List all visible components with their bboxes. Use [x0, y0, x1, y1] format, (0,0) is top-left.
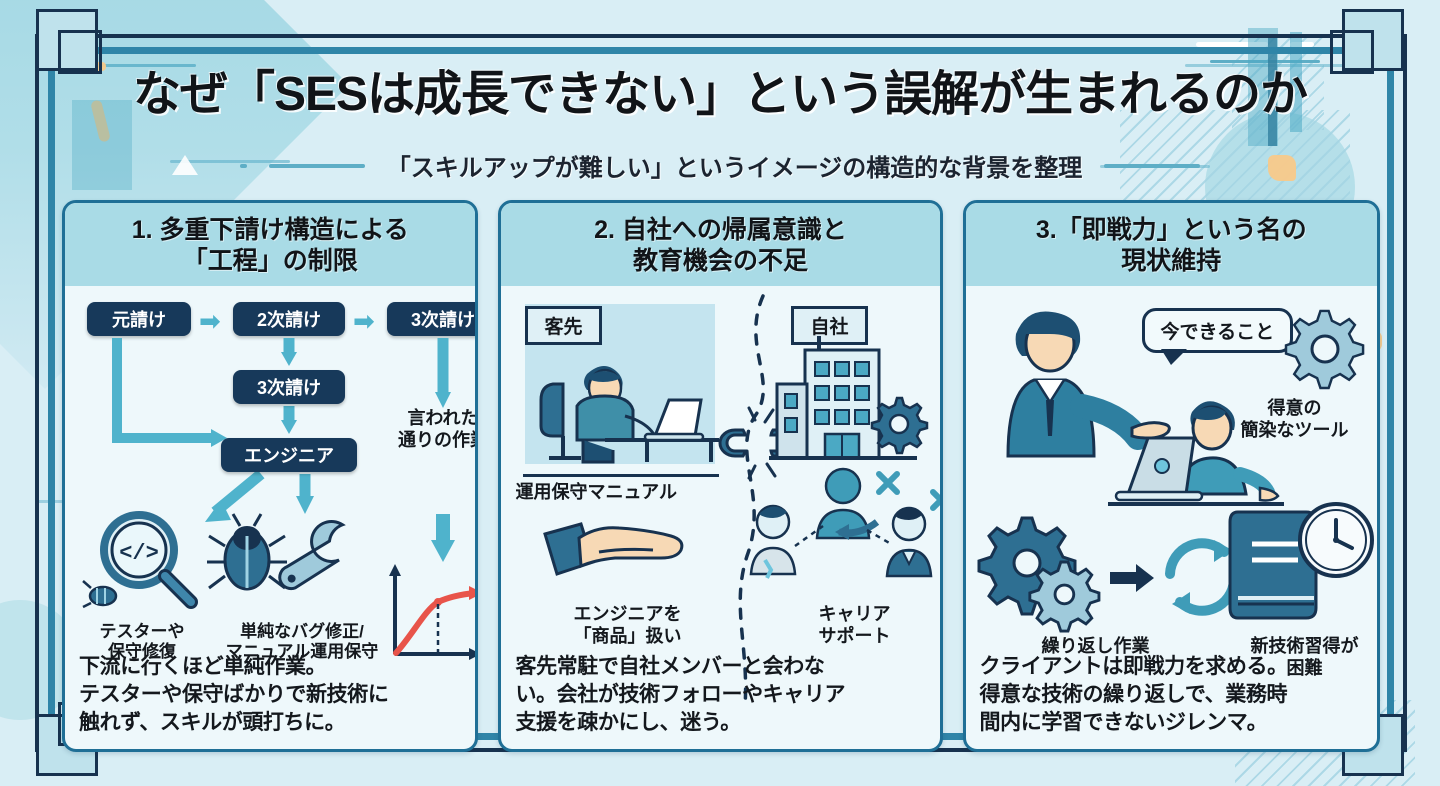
panel-3-header-line-2: 現状維持 [974, 246, 1369, 277]
flow-box-engineer: エンジニア [221, 438, 357, 472]
bug-icon [207, 514, 287, 589]
panel-1-summary: 下流に行くほど単純作業。 テスターや保守ばかりで新技術に 触れず、スキルが頭打ち… [79, 653, 465, 737]
title-area: なぜ「SESは成長できない」という誤解が生まれるのか [0, 54, 1440, 124]
frame-top-teal [48, 47, 1394, 54]
clock-icon [1300, 504, 1372, 576]
frame-left [35, 34, 39, 752]
frame-right [1403, 34, 1407, 752]
code-search-icon: </> [104, 515, 191, 602]
panel-3-header-line-1: 3.「即戦力」という名の [974, 215, 1369, 246]
client-site-tag: 客先 [525, 306, 601, 345]
panel-3-header: 3.「即戦力」という名の 現状維持 [966, 203, 1377, 286]
panel-3-body: 今できること [966, 286, 1377, 749]
qa-maintenance-icons: </> [79, 508, 379, 618]
subtitle-dash-left [269, 164, 365, 168]
speech-bubble: 今できること [1142, 308, 1294, 353]
panel-1-body: 元請け ➡ 2次請け ➡ 3次請け [65, 286, 475, 749]
arrow-right-icon [1110, 564, 1154, 592]
panel-immediate-readiness: 3.「即戦力」という名の 現状維持 今できること [963, 200, 1380, 752]
panel-belonging-and-training: 2. 自社への帰属意識と 教育機会の不足 客先 [498, 200, 942, 752]
gear-small-icon [1029, 562, 1098, 631]
frame-top [35, 34, 1407, 38]
panel-2-header-line-2: 教育機会の不足 [509, 246, 931, 277]
panel-container: 1. 多重下請け構造による 「工程」の制限 元請け ➡ 2次請け ➡ 3次請け [62, 200, 1380, 752]
wrench-icon [276, 510, 352, 602]
panel-1-header-line-1: 1. 多重下請け構造による [73, 215, 467, 246]
repetitive-work-icons [982, 518, 1232, 638]
manual-caption: 運用保守マニュアル [515, 482, 727, 504]
flow-box-third-tier-mid: 3次請け [233, 370, 345, 404]
panel-2-header: 2. 自社への帰属意識と 教育機会の不足 [501, 203, 939, 286]
client-site-floor-line [523, 474, 719, 477]
panel-3-summary: クライアントは即戦力を求める。 得意な技術の繰り返しで、業務時 間内に学習できな… [980, 653, 1367, 737]
x-mark-2 [933, 492, 942, 508]
panel-2-summary: 客先常駐で自社メンバーと会わな い。会社が技術フォローやキャリア 支援を疎かにし… [515, 653, 929, 737]
told-to-do-label: 言われた 通りの作業 [381, 408, 478, 451]
x-mark-1 [879, 474, 897, 492]
panel-1-header: 1. 多重下請け構造による 「工程」の制限 [65, 203, 475, 286]
new-tech-difficulty-icons [1224, 498, 1380, 630]
svg-text:</>: </> [119, 541, 159, 566]
career-support-caption: キャリア サポート [769, 604, 939, 648]
familiar-tool-caption: 得意の 簡染なツール [1210, 398, 1380, 442]
engineer-as-product-icon [545, 518, 707, 598]
gear-icon [872, 398, 927, 453]
page-subtitle: 「スキルアップが難しい」というイメージの構造的な背景を整理 [387, 148, 1083, 183]
subtitle-area: 「スキルアップが難しい」というイメージの構造的な背景を整理 [0, 148, 1440, 183]
subtitle-dot-left [240, 164, 247, 168]
infographic-canvas: なぜ「SESは成長できない」という誤解が生まれるのか 「スキルアップが難しい」と… [0, 0, 1440, 786]
own-company-building-illustration [769, 336, 942, 472]
page-title: なぜ「SESは成長できない」という誤解が生まれるのか [0, 54, 1440, 124]
panel-1-header-line-2: 「工程」の制限 [73, 246, 467, 277]
familiar-tool-gear-icon [1286, 306, 1372, 392]
panel-2-header-line-1: 2. 自社への帰属意識と [509, 215, 931, 246]
engineer-at-client-desk-illustration [529, 344, 729, 470]
commodity-caption: エンジニアを 「商品」扱い [537, 604, 717, 648]
subtitle-dash-right [1104, 164, 1200, 168]
career-support-icon [751, 464, 942, 604]
panel-2-body: 客先 [501, 286, 939, 749]
panel-multilayer-subcontracting: 1. 多重下請け構造による 「工程」の制限 元請け ➡ 2次請け ➡ 3次請け [62, 200, 478, 752]
small-bug-icon [83, 581, 116, 607]
